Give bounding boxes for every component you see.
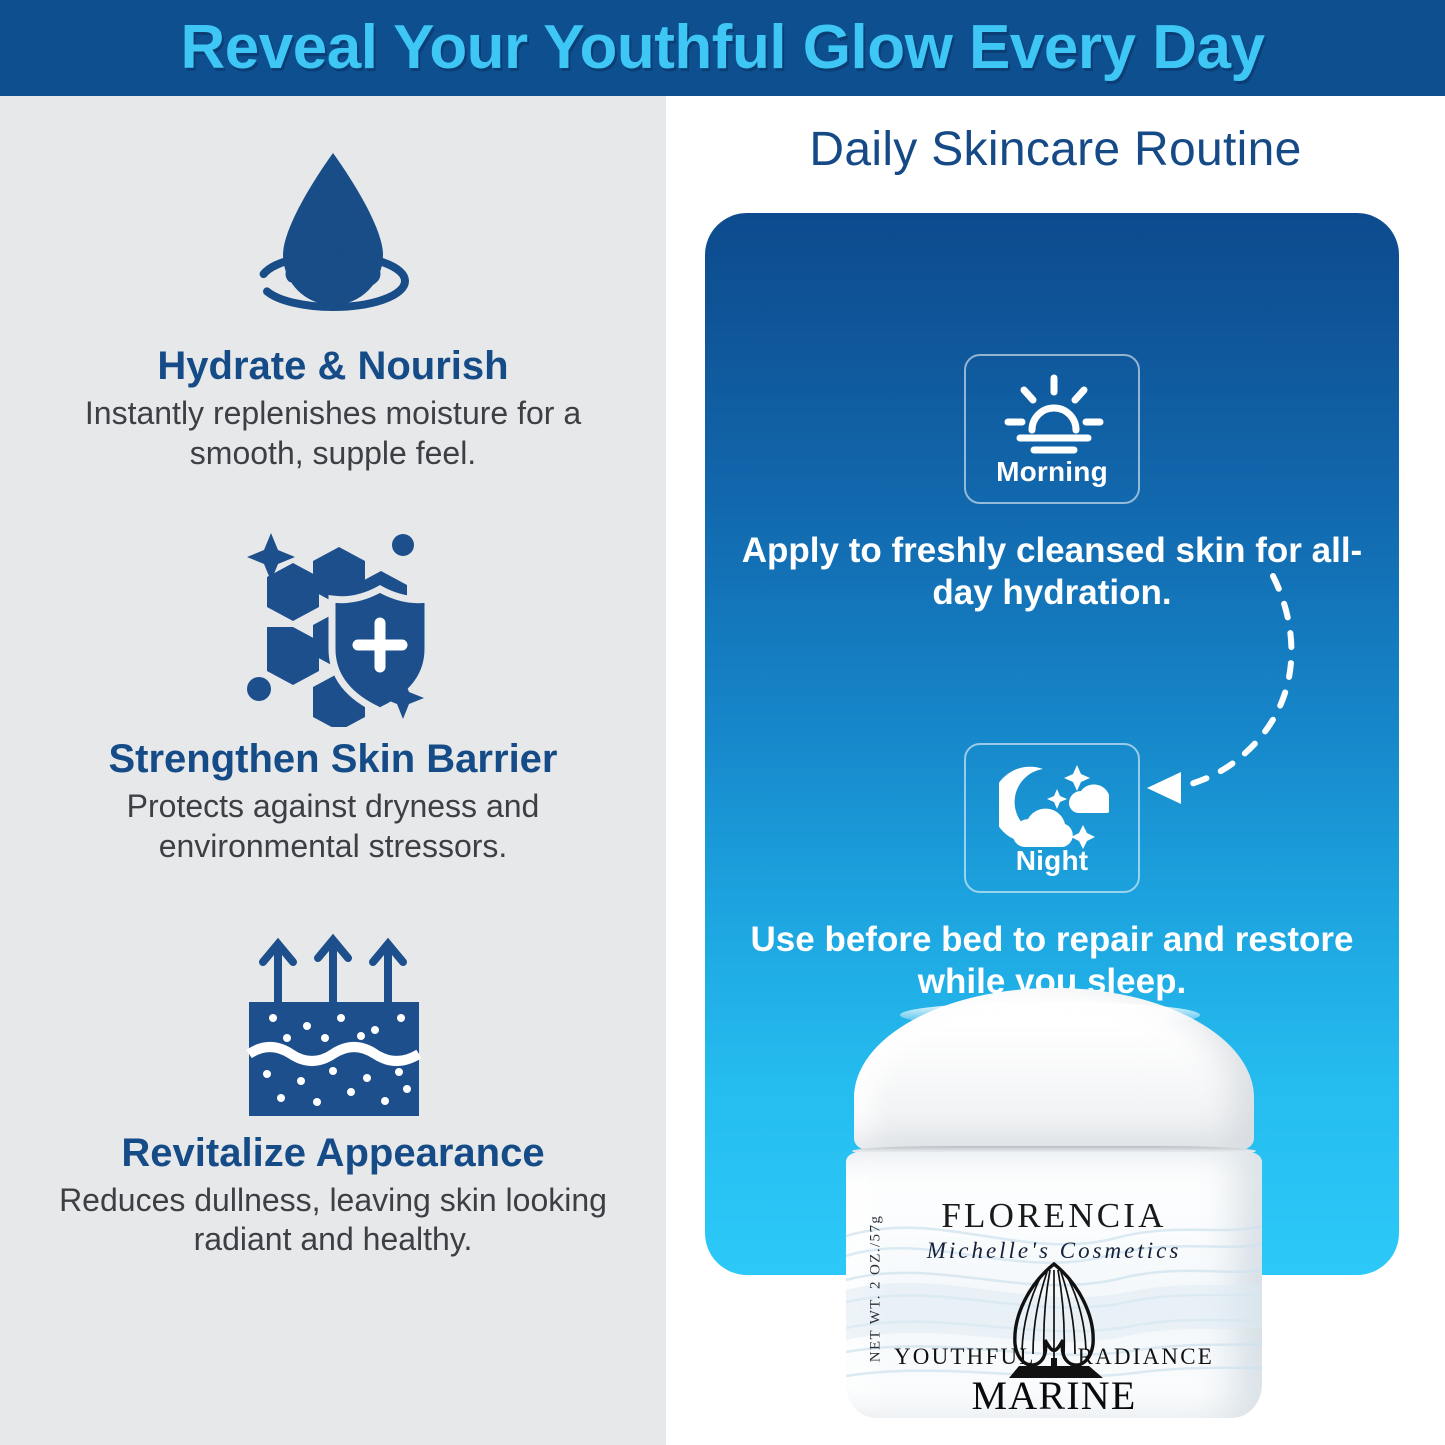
skin-layer-arrows-icon (26, 921, 640, 1121)
jar-brand-name: FLORENCIA (846, 1196, 1262, 1236)
jar-net-weight: NET WT. 2 OZ./57g (867, 1215, 884, 1363)
jar-lid (854, 988, 1254, 1150)
jar-product-name: MARINE MOISTURIZER (846, 1372, 1262, 1418)
feature-description: Reduces dullness, leaving skin looking r… (26, 1181, 640, 1260)
morning-step-chip[interactable]: Morning (964, 354, 1140, 504)
product-jar: FLORENCIA Michelle's Cosmetics YOUTHFUL … (846, 988, 1262, 1418)
features-panel: Hydrate & Nourish Instantly replenishes … (0, 96, 666, 1445)
infographic-root: Reveal Your Youthful Glow Every Day Hydr… (0, 0, 1445, 1445)
feature-barrier: Strengthen Skin Barrier Protects against… (26, 527, 640, 866)
feature-description: Protects against dryness and environment… (26, 787, 640, 866)
page-title: Reveal Your Youthful Glow Every Day (181, 17, 1265, 79)
jar-tag-right: RADIANCE (1078, 1344, 1214, 1370)
honeycomb-shield-icon (26, 527, 640, 727)
jar-label: FLORENCIA Michelle's Cosmetics YOUTHFUL … (846, 1152, 1262, 1418)
sunrise-icon (966, 372, 1142, 462)
water-drop-ripple-icon (26, 134, 640, 334)
header-banner: Reveal Your Youthful Glow Every Day (0, 0, 1445, 96)
night-step-chip[interactable]: Night (964, 743, 1140, 893)
feature-revitalize: Revitalize Appearance Reduces dullness, … (26, 921, 640, 1260)
feature-title: Revitalize Appearance (26, 1131, 640, 1175)
moon-clouds-stars-icon (966, 761, 1142, 851)
feature-description: Instantly replenishes moisture for a smo… (26, 394, 640, 473)
feature-hydrate: Hydrate & Nourish Instantly replenishes … (26, 134, 640, 473)
feature-title: Strengthen Skin Barrier (26, 737, 640, 781)
routine-section-title: Daily Skincare Routine (666, 122, 1445, 177)
dashed-curved-arrow-icon (1125, 568, 1355, 818)
feature-title: Hydrate & Nourish (26, 344, 640, 388)
jar-tag-left: YOUTHFUL (894, 1344, 1036, 1370)
